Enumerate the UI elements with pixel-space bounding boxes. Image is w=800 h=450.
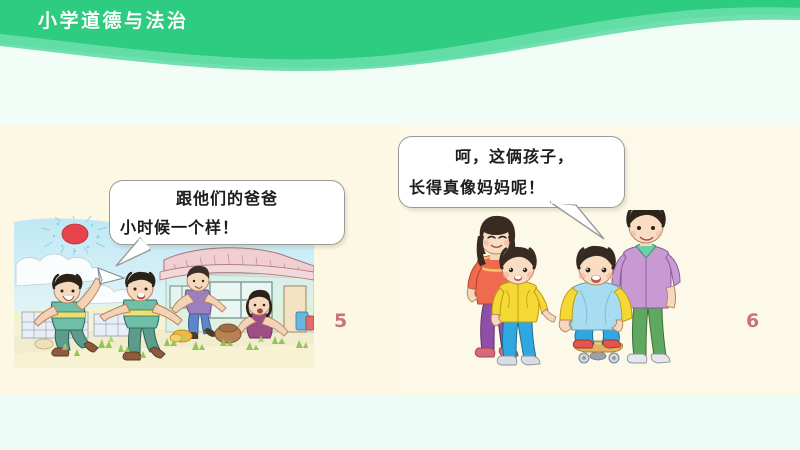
slide-canvas: 小学道德与法治 [0,0,800,450]
header-banner: 小学道德与法治 [0,0,800,130]
page-number-right: 6 [746,310,759,332]
right-bubble-tail [546,199,612,243]
right-speech-bubble: 呵，这俩孩子， 长得真像妈妈呢！ [398,136,625,208]
right-bubble-text: 呵，这俩孩子， 长得真像妈妈呢！ [399,137,644,207]
page-title: 小学道德与法治 [38,6,189,33]
left-bubble-line1: 跟他们的爸爸 [120,184,354,213]
right-bubble-line1: 呵，这俩孩子， [409,141,634,172]
left-bubble-text: 跟他们的爸爸 小时候一个样！ [110,181,364,244]
open-book-logo [748,7,800,130]
page-number-left: 5 [334,310,347,332]
left-bubble-tail [110,236,156,270]
